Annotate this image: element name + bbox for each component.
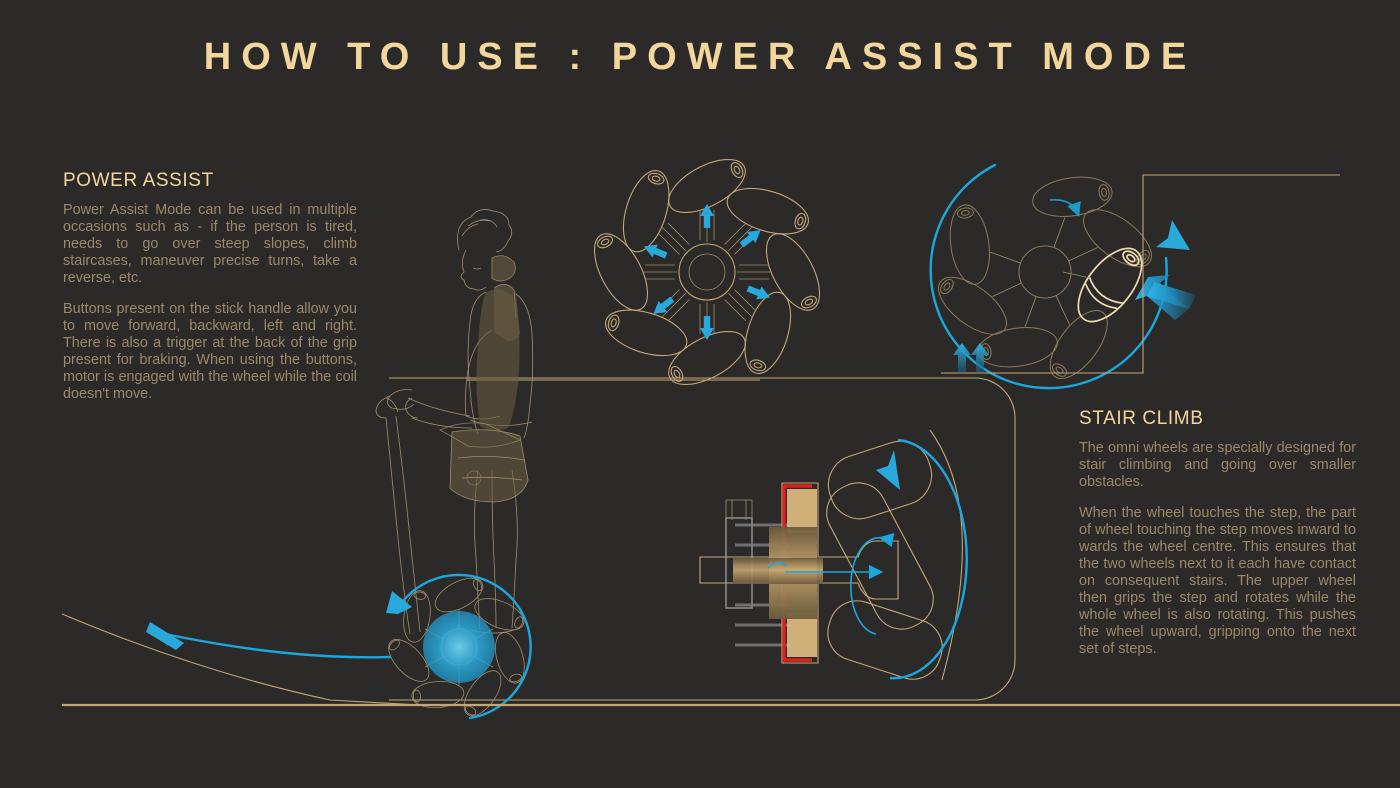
roller-spin-arrow-head (876, 450, 900, 490)
stair-climb-text-block: STAIR CLIMB The omni wheels are speciall… (1079, 408, 1356, 658)
slope-illustration (62, 614, 420, 705)
magnet-block-top (787, 489, 817, 533)
stair-climb-paragraph-1: The omni wheels are specially designed f… (1079, 440, 1356, 491)
wheel-hub-glow (423, 611, 495, 683)
magnet-block-bottom (787, 613, 817, 657)
power-assist-paragraph-1: Power Assist Mode can be used in multipl… (63, 202, 357, 287)
stair-climb-heading: STAIR CLIMB (1079, 408, 1356, 430)
hip-device (440, 423, 528, 502)
stair-climb-wheel-illustration (929, 165, 1340, 388)
callout-lines (467, 373, 1220, 380)
power-assist-text-block: POWER ASSIST Power Assist Mode can be us… (63, 170, 357, 403)
infographic-page: HOW TO USE : POWER ASSIST MODE (0, 0, 1400, 788)
slope-direction-arrow (165, 634, 390, 657)
omni-wheel-top-illustration (584, 149, 831, 396)
slope-curve (62, 614, 420, 705)
highlighted-roller (1066, 238, 1154, 333)
roller-spin-arrow-small (851, 538, 882, 634)
power-assist-paragraph-2: Buttons present on the stick handle allo… (63, 301, 357, 403)
roller-spin-arrow-large (890, 440, 967, 678)
motor-coil-cross-section (700, 430, 967, 686)
power-assist-heading: POWER ASSIST (63, 170, 357, 192)
rider-figure-illustration (376, 209, 533, 634)
stair-climb-paragraph-2: When the wheel touches the step, the par… (1079, 505, 1356, 658)
rotation-arrow-head (1156, 220, 1190, 250)
